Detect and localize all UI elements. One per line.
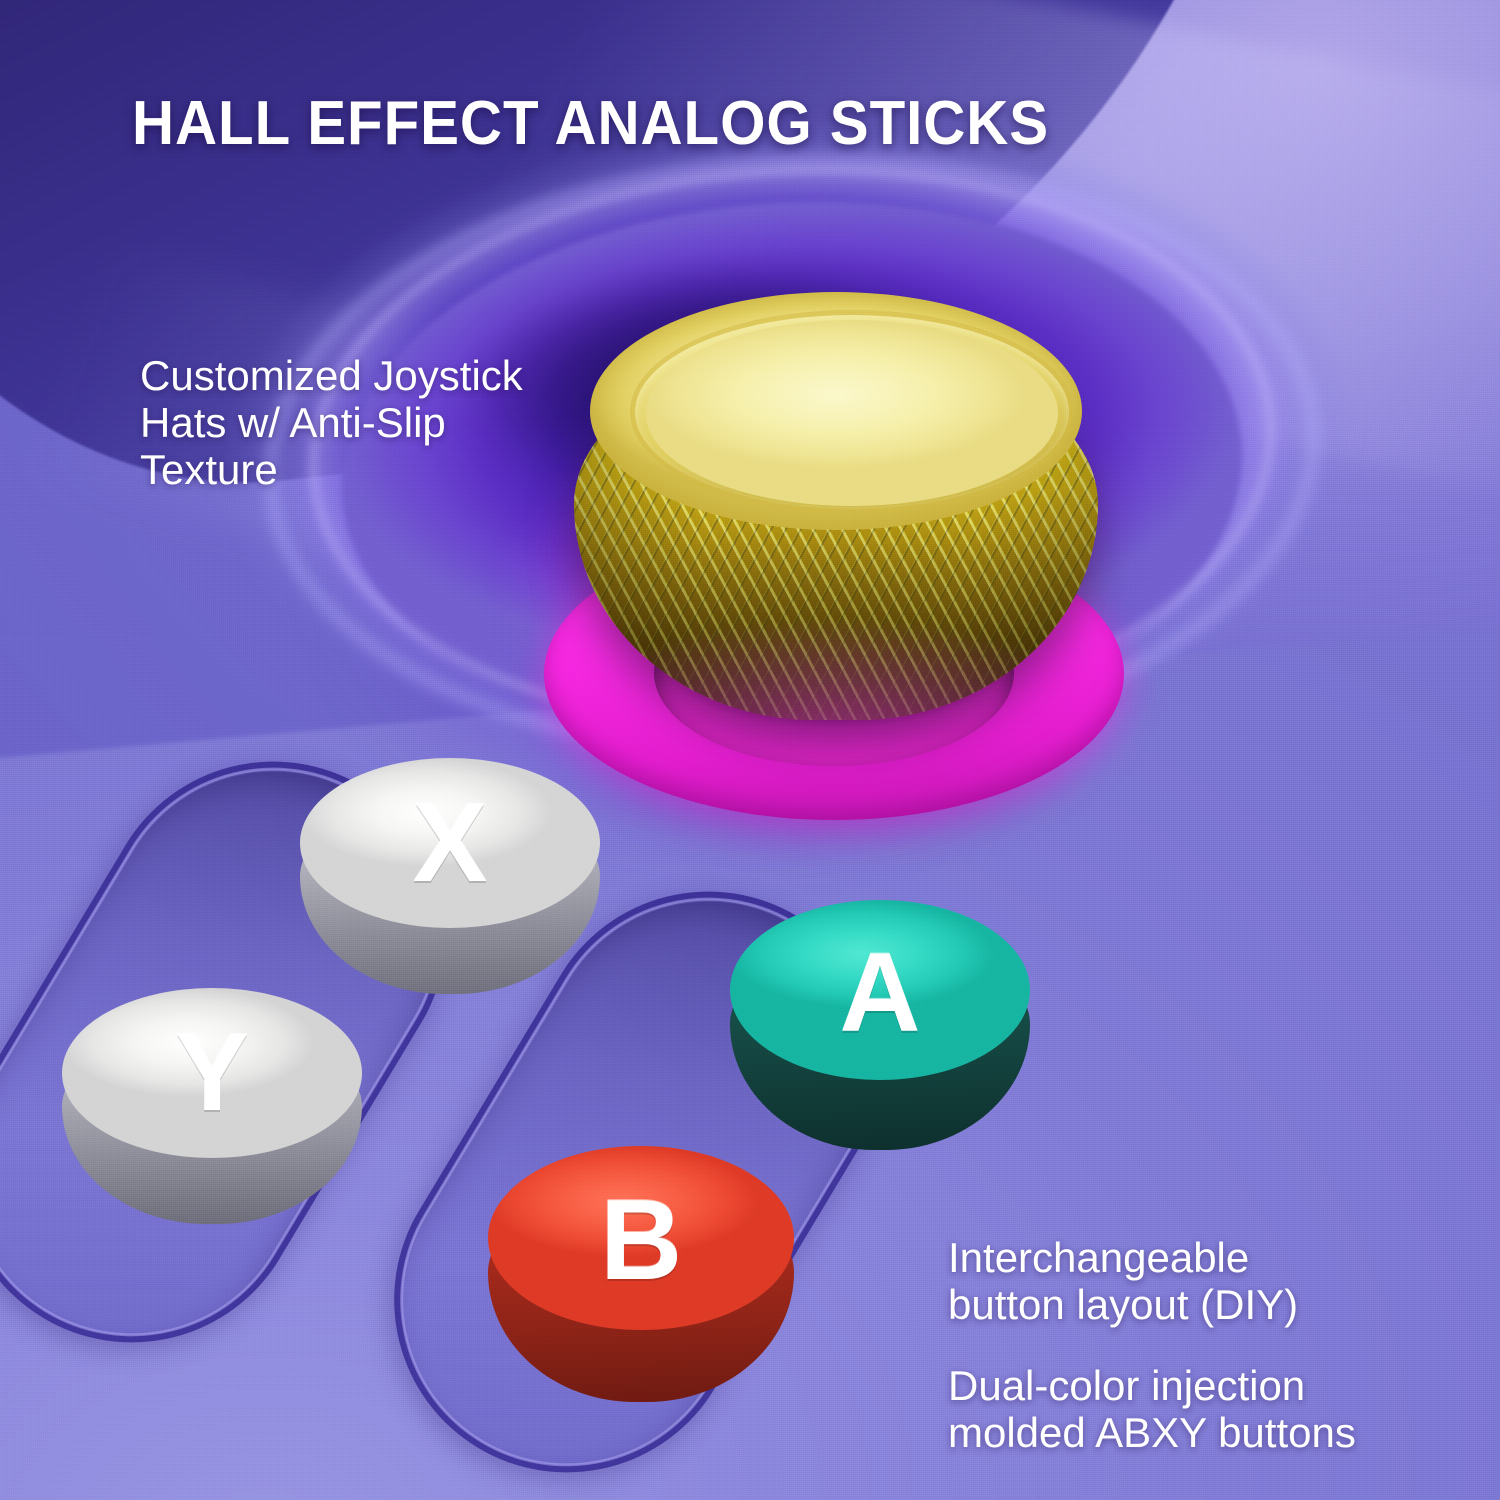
callout-diy: Interchangeable button layout (DIY) xyxy=(948,1234,1298,1328)
button-b-label: B xyxy=(488,1079,794,1402)
cap-top-dish xyxy=(646,320,1058,506)
callout-dual-color-line-1: Dual-color injection xyxy=(948,1362,1356,1409)
joystick-cap-top-face xyxy=(590,292,1082,530)
joystick-cap[interactable] xyxy=(574,292,1098,722)
cap-magenta-bounce-light xyxy=(574,586,1098,720)
callout-joystick-line-2: Hats w/ Anti-Slip xyxy=(140,399,523,446)
callout-joystick-line-1: Customized Joystick xyxy=(140,352,523,399)
button-y[interactable]: Y xyxy=(62,988,362,1224)
button-b[interactable]: B xyxy=(488,1146,794,1402)
callout-dual-color: Dual-color injection molded ABXY buttons xyxy=(948,1362,1356,1456)
page-title: HALL EFFECT ANALOG STICKS xyxy=(132,88,1049,159)
button-y-label: Y xyxy=(62,922,362,1224)
callout-joystick-line-3: Texture xyxy=(140,446,523,493)
callout-dual-color-line-2: molded ABXY buttons xyxy=(948,1409,1356,1456)
product-feature-image: X Y A B HALL EFFECT ANALOG STICKS Custom… xyxy=(0,0,1500,1500)
callout-diy-line-1: Interchangeable xyxy=(948,1234,1298,1281)
callout-diy-line-2: button layout (DIY) xyxy=(948,1281,1298,1328)
callout-joystick: Customized Joystick Hats w/ Anti-Slip Te… xyxy=(140,352,523,493)
